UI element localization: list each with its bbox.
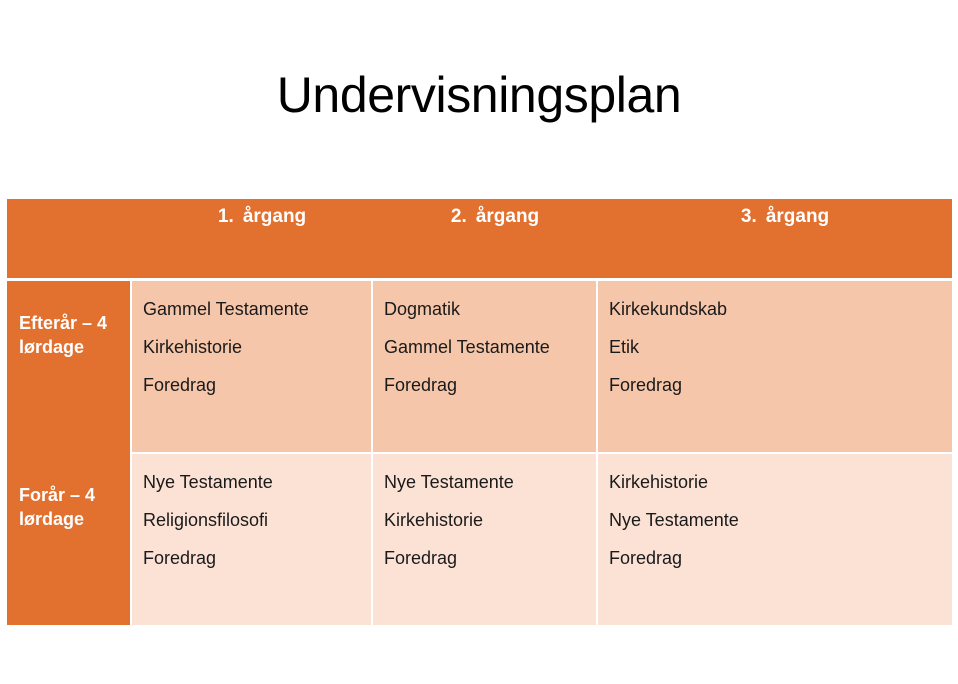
cell-efteraar-year3: Kirkekundskab Etik Foredrag (597, 281, 952, 453)
subject-item: Foredrag (384, 539, 586, 577)
subject-item: Nye Testamente (384, 463, 586, 501)
subject-item: Nye Testamente (143, 463, 361, 501)
subject-item: Foredrag (384, 366, 586, 404)
subject-item: Dogmatik (384, 290, 586, 328)
column-header-year-3-label: årgang (766, 206, 829, 227)
subject-item: Foredrag (143, 366, 361, 404)
column-header-year-1-number: 1. (209, 207, 243, 226)
subject-item: Kirkehistorie (609, 463, 942, 501)
subject-item: Gammel Testamente (384, 328, 586, 366)
table-row: Forår – 4 lørdage Nye Testamente Religio… (7, 453, 952, 625)
column-header-year-3-number: 3. (732, 207, 766, 226)
subject-item: Foredrag (609, 366, 942, 404)
cell-foraar-year2: Nye Testamente Kirkehistorie Foredrag (372, 453, 597, 625)
column-header-year-3-text: 3.årgang (609, 199, 952, 226)
column-header-year-1: 1.årgang (131, 199, 372, 278)
column-header-year-2-number: 2. (442, 207, 476, 226)
cell-efteraar-year1: Gammel Testamente Kirkehistorie Foredrag (131, 281, 372, 453)
subject-item: Religionsfilosofi (143, 501, 361, 539)
column-header-year-1-text: 1.årgang (143, 199, 372, 226)
column-header-year-3: 3.årgang (597, 199, 952, 278)
table-header: 1.årgang 2.årgang 3.årgang (7, 199, 952, 278)
subject-item: Kirkekundskab (609, 290, 942, 328)
row-header-foraar: Forår – 4 lørdage (7, 453, 131, 625)
subject-item: Kirkehistorie (143, 328, 361, 366)
subject-item: Etik (609, 328, 942, 366)
cell-efteraar-year2: Dogmatik Gammel Testamente Foredrag (372, 281, 597, 453)
column-header-year-1-label: årgang (243, 206, 306, 227)
page-title: Undervisningsplan (0, 68, 958, 123)
slide-canvas: Undervisningsplan 1.årgang 2.årgang 3.år… (0, 0, 958, 684)
table-body: Efterår – 4 lørdage Gammel Testamente Ki… (7, 278, 952, 625)
table-header-row: 1.årgang 2.årgang 3.årgang (7, 199, 952, 278)
subject-item: Gammel Testamente (143, 290, 361, 328)
subject-item: Nye Testamente (609, 501, 942, 539)
column-header-year-2: 2.årgang (372, 199, 597, 278)
row-header-foraar-label: Forår – 4 lørdage (19, 483, 120, 532)
subject-item: Kirkehistorie (384, 501, 586, 539)
cell-foraar-year3: Kirkehistorie Nye Testamente Foredrag (597, 453, 952, 625)
row-header-efteraar-label: Efterår – 4 lørdage (19, 311, 120, 360)
row-header-efteraar: Efterår – 4 lørdage (7, 281, 131, 453)
column-header-year-2-label: årgang (476, 206, 539, 227)
subject-item: Foredrag (609, 539, 942, 577)
column-header-year-2-text: 2.årgang (384, 199, 597, 226)
cell-foraar-year1: Nye Testamente Religionsfilosofi Foredra… (131, 453, 372, 625)
table-corner-cell (7, 199, 131, 278)
table-row: Efterår – 4 lørdage Gammel Testamente Ki… (7, 281, 952, 453)
subject-item: Foredrag (143, 539, 361, 577)
teaching-plan-table: 1.årgang 2.årgang 3.årgang Efterår – 4 l… (7, 199, 952, 625)
